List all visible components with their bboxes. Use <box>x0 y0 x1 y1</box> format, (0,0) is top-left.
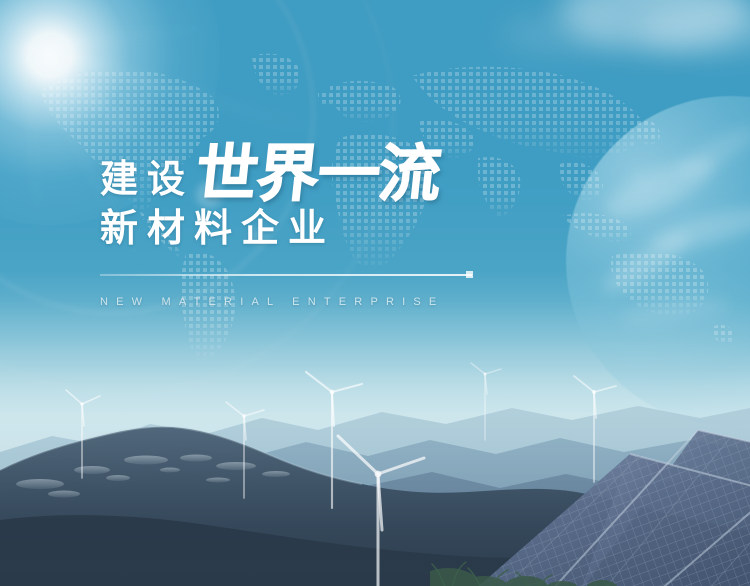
divider-endpoint <box>466 271 473 278</box>
headline-block: 建设 世界一流 新材料企业 NEW MATERIAL ENTERPRISE <box>100 132 530 308</box>
headline-line-2: 新材料企业 <box>100 210 530 248</box>
headline-prefix: 建设 <box>100 161 194 206</box>
divider <box>100 274 472 276</box>
headline-line-1: 建设 世界一流 <box>100 132 530 206</box>
subtitle-english: NEW MATERIAL ENTERPRISE <box>100 296 530 308</box>
hero-banner: 建设 世界一流 新材料企业 NEW MATERIAL ENTERPRISE <box>0 0 750 586</box>
headline-emphasis: 世界一流 <box>193 144 444 206</box>
